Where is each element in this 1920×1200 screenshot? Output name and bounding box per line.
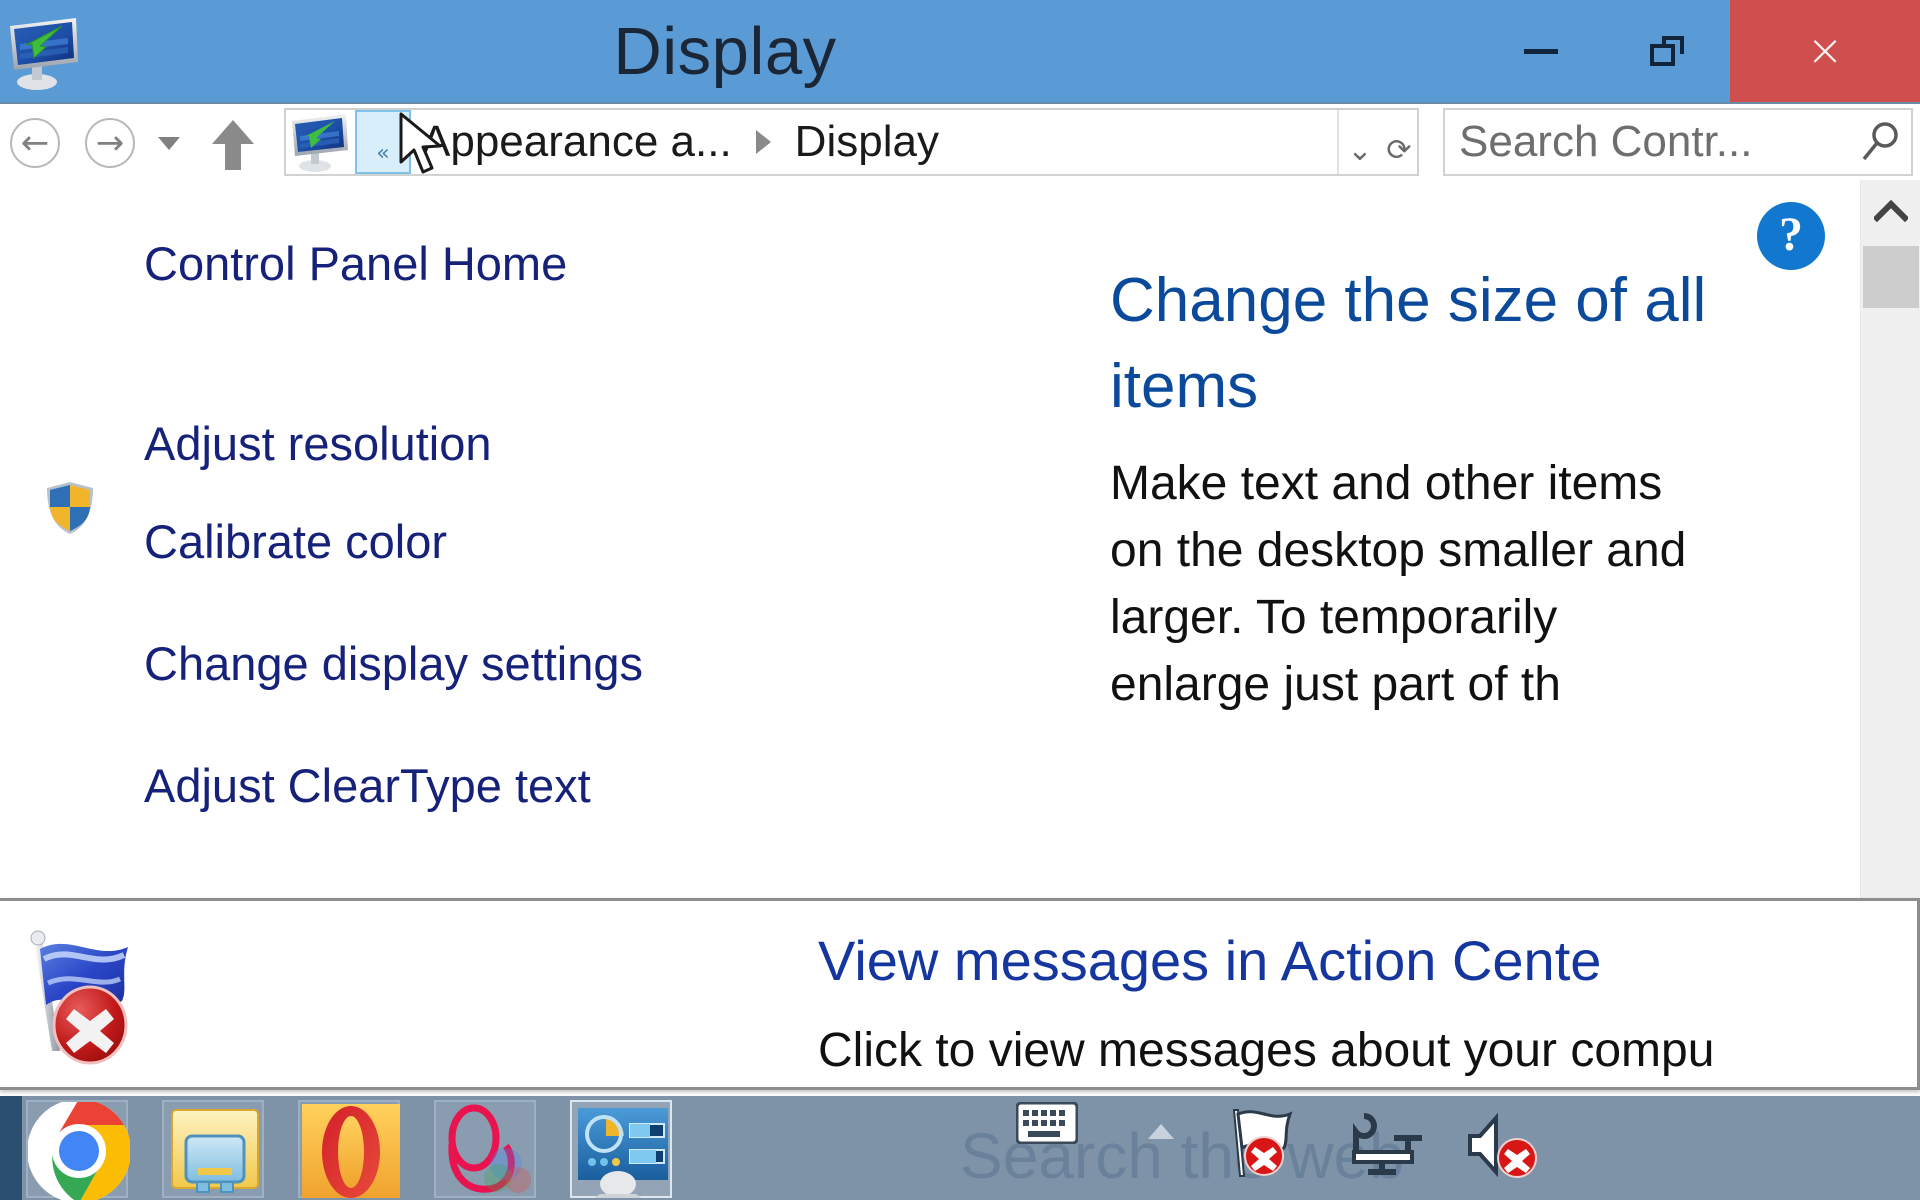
breadcrumb-overflow-button[interactable]: « [355, 110, 411, 174]
restore-icon [1650, 36, 1684, 66]
window-controls: × [1478, 0, 1920, 102]
breadcrumb-display[interactable]: Display [785, 117, 949, 167]
navigation-toolbar: ← → « [0, 104, 1920, 180]
tray-network-troubleshoot-icon[interactable] [1342, 1106, 1422, 1182]
start-button[interactable] [0, 1096, 22, 1200]
taskbar: 3:12 PM [0, 1096, 1920, 1200]
tray-action-center-flag-error-icon[interactable] [1218, 1106, 1298, 1182]
toast-title-link[interactable]: View messages in Action Cente [818, 929, 1601, 993]
scroll-up-button[interactable] [1861, 180, 1920, 242]
address-bar[interactable]: « Appearance a... Display ⌄ ⟳ [284, 108, 1419, 176]
up-arrow-icon [208, 116, 258, 172]
vertical-scrollbar[interactable] [1860, 180, 1920, 900]
search-control-panel-input[interactable]: Search Contr... [1443, 108, 1913, 176]
window-title: Display [0, 0, 1450, 104]
pink-loop-icon [436, 1102, 538, 1200]
tray-volume-muted-error-icon[interactable] [1462, 1106, 1542, 1182]
main-details-pane: ? Change the size of all items Make text… [1080, 180, 1870, 900]
taskbar-item-control-panel[interactable] [570, 1100, 672, 1198]
action-center-notification-toast[interactable]: View messages in Action Cente Click to v… [0, 898, 1920, 1090]
taskbar-item-chrome[interactable] [26, 1100, 128, 1198]
page-description: Make text and other items on the desktop… [1110, 450, 1690, 718]
forward-button[interactable]: → [85, 118, 135, 168]
page-title: Change the size of all items [1110, 258, 1730, 430]
scrollbar-thumb[interactable] [1863, 246, 1919, 308]
left-navigation-pane: Control Panel Home Adjust resolution [0, 180, 1080, 900]
chrome-icon [28, 1102, 130, 1200]
breadcrumb-appearance[interactable]: Appearance a... [411, 117, 742, 167]
restore-button[interactable] [1604, 0, 1730, 102]
toast-subtitle: Click to view messages about your compu [818, 1023, 1714, 1078]
close-icon: × [1807, 29, 1844, 73]
double-chevron-left-icon: « [357, 141, 409, 166]
file-explorer-icon [164, 1102, 266, 1200]
search-placeholder: Search Contr... [1445, 117, 1855, 167]
up-one-level-button[interactable] [208, 116, 258, 172]
chevron-up-icon [1874, 200, 1908, 222]
minimize-icon [1524, 49, 1558, 54]
minimize-button[interactable] [1478, 0, 1604, 102]
help-button[interactable]: ? [1757, 202, 1825, 270]
taskbar-item-file-explorer[interactable] [162, 1100, 264, 1198]
display-control-panel-window: Display × ← → [0, 0, 1920, 1200]
sidebar-item-calibrate-color[interactable]: Calibrate color [144, 518, 447, 565]
recent-locations-chevron-down-icon[interactable] [158, 137, 180, 150]
window-titlebar: Display × [0, 0, 1920, 104]
show-hidden-icons-caret-icon[interactable] [1148, 1124, 1174, 1139]
touch-keyboard-icon[interactable] [1016, 1102, 1078, 1144]
back-arrow-icon: ← [21, 126, 50, 160]
taskbar-item-unknown-pink-app[interactable] [434, 1100, 536, 1198]
search-icon [1855, 117, 1905, 167]
refresh-icon[interactable]: ⟳ [1381, 110, 1417, 174]
taskbar-item-opera[interactable] [298, 1100, 400, 1198]
breadcrumb-separator-chevron-right-icon[interactable] [756, 130, 771, 154]
uac-shield-icon [44, 480, 96, 536]
content-area: Control Panel Home Adjust resolution [0, 180, 1920, 900]
close-button[interactable]: × [1730, 0, 1920, 102]
action-center-flag-error-icon [16, 927, 156, 1067]
back-button[interactable]: ← [10, 118, 60, 168]
sidebar-item-change-display-settings[interactable]: Change display settings [144, 640, 643, 687]
address-bar-display-monitor-icon [289, 111, 353, 173]
sidebar-item-control-panel-home[interactable]: Control Panel Home [144, 240, 567, 287]
sidebar-item-adjust-resolution[interactable]: Adjust resolution [144, 420, 491, 467]
opera-icon [300, 1102, 402, 1200]
forward-arrow-icon: → [96, 126, 125, 160]
address-history-chevron-down-icon[interactable]: ⌄ [1337, 110, 1381, 174]
sidebar-item-adjust-cleartype-text[interactable]: Adjust ClearType text [144, 762, 591, 809]
control-panel-icon [572, 1102, 674, 1200]
